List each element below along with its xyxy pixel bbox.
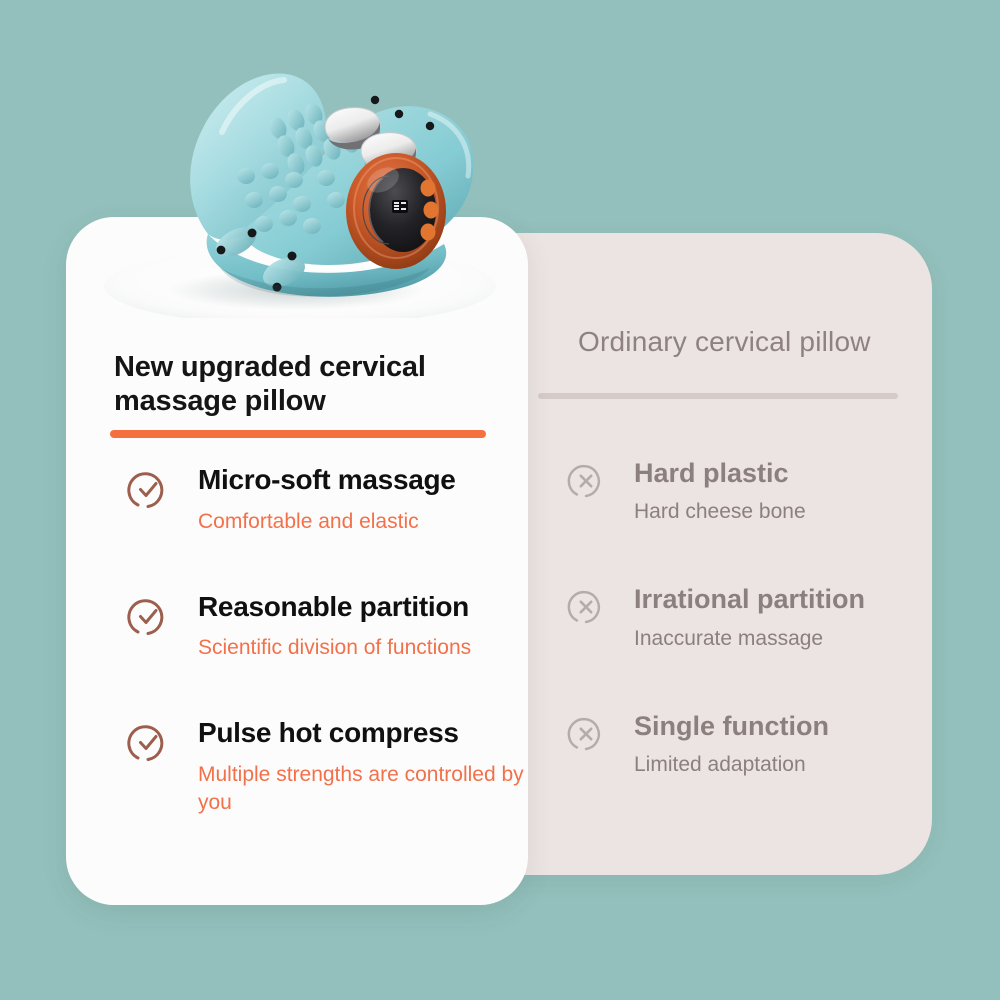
list-item-heading: Single function <box>634 711 926 741</box>
x-circle-icon <box>566 461 606 501</box>
ordinary-feature-list: Hard plastic Hard cheese bone Irrational… <box>566 458 926 777</box>
list-item-subtext: Multiple strengths are controlled by you <box>198 761 526 816</box>
check-circle-icon <box>126 468 170 512</box>
new-card-underline <box>110 430 486 438</box>
list-item: Micro-soft massage Comfortable and elast… <box>126 465 526 536</box>
list-item-heading: Pulse hot compress <box>198 718 526 749</box>
list-item-subtext: Hard cheese bone <box>634 499 926 524</box>
list-item-subtext: Inaccurate massage <box>634 626 926 651</box>
list-item-heading: Hard plastic <box>634 458 926 488</box>
x-circle-icon <box>566 587 606 627</box>
list-item-heading: Reasonable partition <box>198 592 526 623</box>
comparison-infographic: Ordinary cervical pillow Hard plastic Ha… <box>0 0 1000 1000</box>
check-circle-icon <box>126 595 170 639</box>
ordinary-card-divider <box>538 393 898 399</box>
list-item: Single function Limited adaptation <box>566 711 926 777</box>
list-item: Pulse hot compress Multiple strengths ar… <box>126 718 526 816</box>
list-item-subtext: Comfortable and elastic <box>198 508 526 536</box>
new-card-title: New upgraded cervical massage pillow <box>114 351 494 419</box>
ordinary-card-title: Ordinary cervical pillow <box>578 326 871 358</box>
x-circle-icon <box>566 714 606 754</box>
list-item-heading: Micro-soft massage <box>198 465 526 496</box>
list-item: Irrational partition Inaccurate massage <box>566 584 926 650</box>
list-item-subtext: Limited adaptation <box>634 752 926 777</box>
list-item: Reasonable partition Scientific division… <box>126 592 526 663</box>
new-pillow-card: New upgraded cervical massage pillow Mic… <box>66 217 528 905</box>
new-feature-list: Micro-soft massage Comfortable and elast… <box>126 465 526 816</box>
list-item-subtext: Scientific division of functions <box>198 634 526 662</box>
list-item-heading: Irrational partition <box>634 584 926 614</box>
list-item: Hard plastic Hard cheese bone <box>566 458 926 524</box>
check-circle-icon <box>126 721 170 765</box>
